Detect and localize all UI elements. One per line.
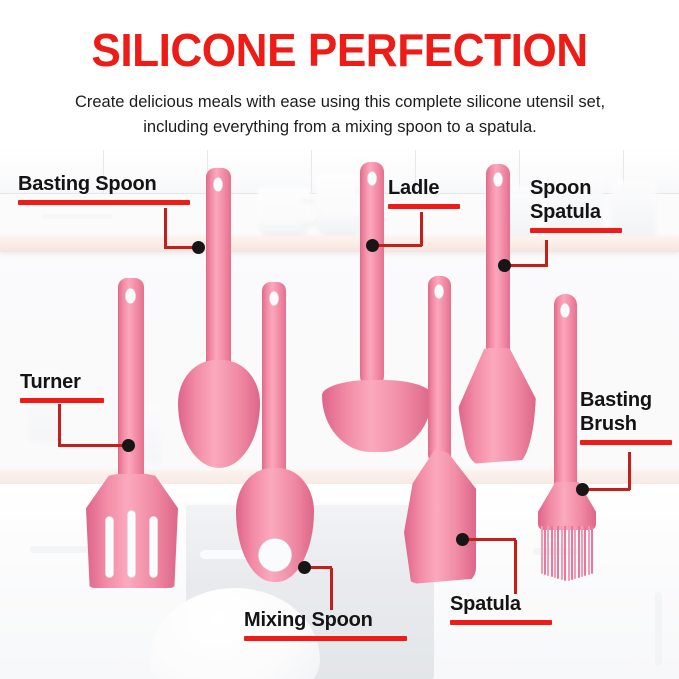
callout-basting-spoon-rule (18, 200, 190, 205)
callout-basting-spoon[interactable]: Basting Spoon (18, 172, 208, 205)
turner-slot (127, 510, 136, 578)
bristle (591, 526, 593, 574)
callout-ladle-rule (388, 204, 460, 209)
bristle (584, 526, 586, 576)
page-title: SILICONE PERFECTION (14, 25, 666, 75)
basting-brush-handle (554, 294, 577, 502)
bristle (581, 526, 583, 577)
header-banner: SILICONE PERFECTION Create delicious mea… (0, 0, 679, 150)
ladle-hang-hole (367, 171, 377, 186)
callout-basting-spoon-label: Basting Spoon (18, 172, 208, 196)
basting-brush-hang-hole (560, 303, 570, 318)
callout-spatula[interactable]: Spatula (450, 592, 570, 625)
callout-basting-brush-label: Basting Brush (580, 388, 679, 436)
turner-hang-hole (125, 288, 136, 304)
callout-spoon-spatula-rule (530, 228, 622, 233)
callout-mixing-spoon-rule (244, 636, 407, 641)
turner-slot (105, 516, 114, 578)
basting-brush-bristles (540, 526, 594, 586)
utensil-mixing-spoon (232, 282, 316, 582)
mixing-spoon-drain-hole (258, 538, 292, 572)
background-mug (258, 188, 310, 238)
callout-ladle[interactable]: Ladle (388, 176, 488, 209)
bristle (588, 526, 590, 575)
callout-mixing-spoon-label: Mixing Spoon (244, 608, 424, 632)
callout-spatula-label: Spatula (450, 592, 570, 616)
bristle (541, 526, 543, 574)
bristle (574, 526, 576, 579)
bristle (568, 526, 570, 581)
basting-spoon-hang-hole (213, 177, 223, 192)
callout-spoon-spatula-label: Spoon Spatula (530, 176, 670, 224)
page-subtitle: Create delicious meals with ease using t… (60, 90, 620, 140)
bristle (554, 526, 556, 578)
mixing-spoon-hang-hole (269, 291, 279, 306)
bristle (551, 526, 553, 577)
shelf-rail (42, 214, 112, 219)
spoon-spatula-hang-hole (493, 172, 503, 187)
bristle (571, 526, 573, 580)
pointer-dot-basting-brush (576, 483, 589, 496)
bristle (547, 526, 549, 576)
ladle-handle (360, 162, 384, 388)
pointer-dot-ladle (366, 239, 379, 252)
callout-turner-label: Turner (20, 370, 140, 394)
pointer-dot-basting-spoon (192, 241, 205, 254)
bristle (564, 526, 566, 581)
turner-slot (149, 516, 158, 578)
spatula-blade (404, 448, 476, 584)
pointer-dot-spoon-spatula (498, 259, 511, 272)
callout-basting-brush[interactable]: Basting Brush (580, 388, 679, 445)
spatula-hang-hole (434, 284, 444, 299)
bristle (578, 526, 580, 578)
callout-ladle-label: Ladle (388, 176, 488, 200)
product-infographic: Basting Spoon Turner Ladle Spoon Spatula… (0, 0, 679, 679)
callout-spoon-spatula[interactable]: Spoon Spatula (530, 176, 670, 233)
bristle (561, 526, 563, 580)
pointer-dot-mixing-spoon (298, 561, 311, 574)
bristle (544, 526, 546, 575)
pointer-dot-spatula (456, 533, 469, 546)
basting-spoon-handle (206, 168, 231, 380)
cabinet-handle (655, 592, 662, 666)
spoon-spatula-blade (458, 348, 536, 464)
callout-mixing-spoon[interactable]: Mixing Spoon (244, 608, 424, 641)
callout-basting-brush-rule (580, 440, 672, 445)
spatula-handle (428, 276, 451, 466)
pointer-dot-turner (122, 439, 135, 452)
utensil-turner (82, 278, 178, 588)
callout-turner[interactable]: Turner (20, 370, 140, 403)
utensil-spoon-spatula (452, 164, 542, 464)
callout-spatula-rule (450, 620, 552, 625)
callout-turner-rule (20, 398, 104, 403)
mixing-spoon-handle (262, 282, 286, 488)
bristle (557, 526, 559, 579)
